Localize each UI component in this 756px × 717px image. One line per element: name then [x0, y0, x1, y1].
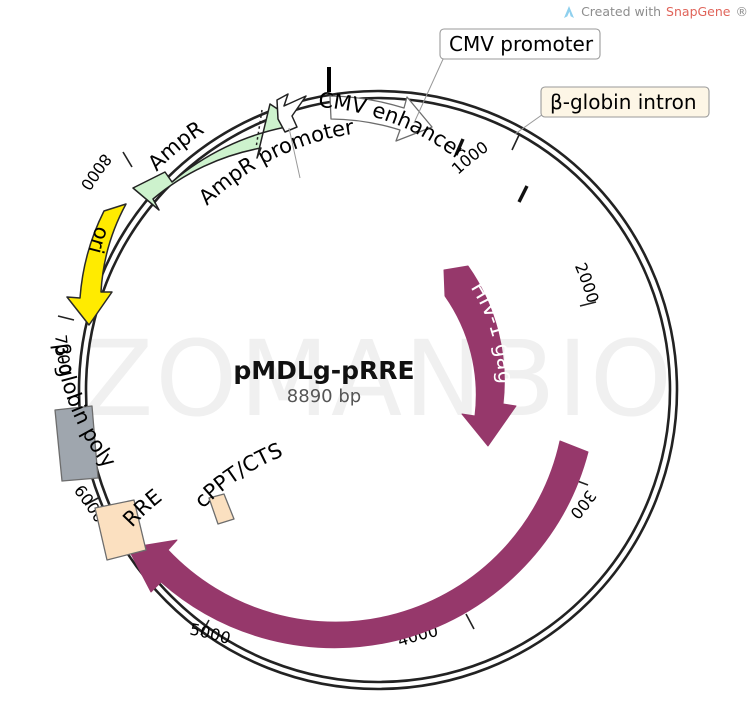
callout-beta-globin-intron[interactable]: β-globin intron [515, 87, 709, 134]
credit-brand: SnapGene [666, 4, 730, 19]
callout-label-cmv-promoter: CMV promoter [449, 32, 594, 56]
plasmid-map-svg: ZOMANBIO 1000 2000 3000 4000 5000 6000 [0, 0, 756, 717]
feature-label-cppt-cts: cPPT/CTS [190, 438, 286, 513]
page-title: pMDLg-pRRE [233, 356, 414, 385]
snapgene-logo-icon [562, 5, 576, 19]
svg-text:HIV-1 pol: HIV-1 pol [308, 576, 404, 609]
feature-label-hiv1-pol: HIV-1 pol [308, 576, 404, 609]
feature-hiv1-pol[interactable]: HIV-1 pol [128, 441, 588, 648]
tick-label-2000: 2000 [571, 260, 603, 305]
svg-text:2000: 2000 [571, 260, 603, 305]
tick-label-8000: 8000 [77, 150, 116, 194]
svg-text:8000: 8000 [77, 150, 116, 194]
feature-ori[interactable]: ori [67, 204, 126, 325]
plasmid-size-label: 8890 bp [287, 386, 361, 407]
credit-prefix: Created with [581, 4, 661, 19]
credit-trademark: ® [736, 4, 749, 19]
plasmid-map-canvas: ZOMANBIO 1000 2000 3000 4000 5000 6000 [0, 0, 756, 717]
callout-label-beta-globin-intron: β-globin intron [550, 90, 697, 114]
svg-text:cPPT/CTS: cPPT/CTS [190, 438, 286, 513]
snapgene-credit: Created with SnapGene ® [562, 4, 748, 19]
feature-cppt-cts[interactable]: cPPT/CTS [190, 438, 286, 524]
